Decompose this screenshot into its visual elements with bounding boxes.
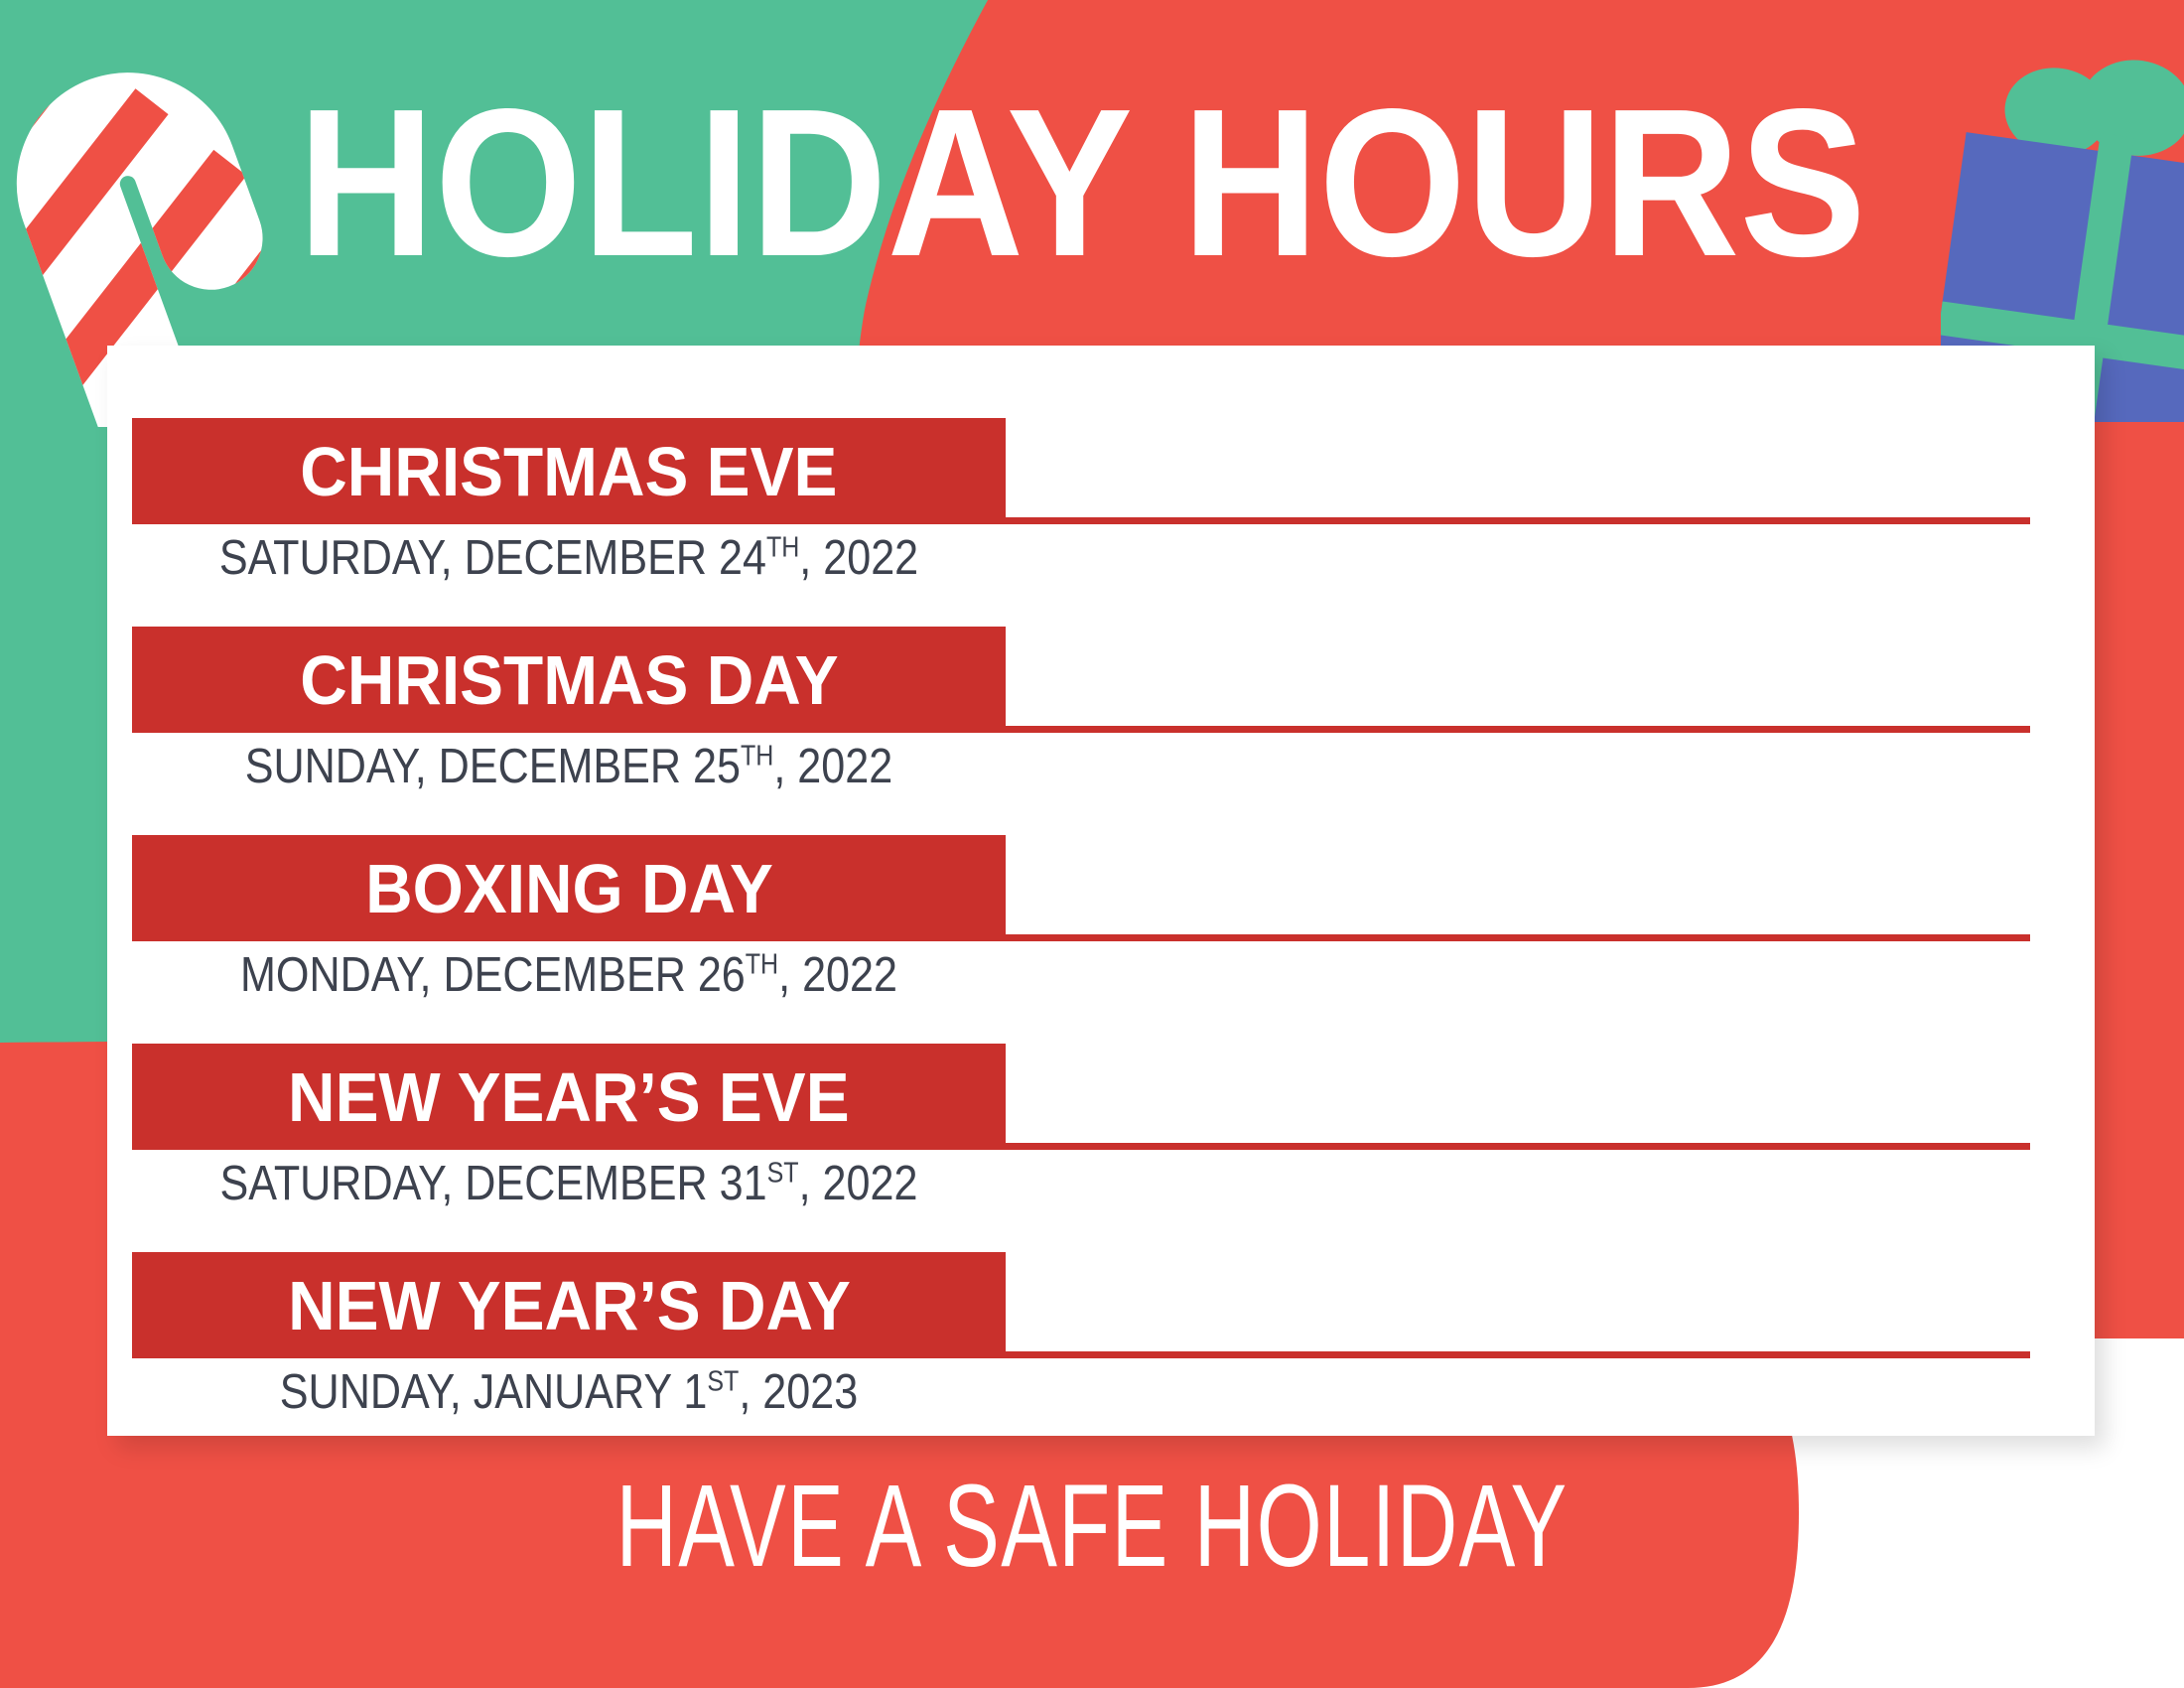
schedule-row[interactable]: NEW YEAR’S EVE SATURDAY, DECEMBER 31ST, … xyxy=(107,971,2095,1180)
holiday-name: NEW YEAR’S EVE xyxy=(288,1062,850,1132)
schedule-row[interactable]: BOXING DAY MONDAY, DECEMBER 26TH, 2022 xyxy=(107,763,2095,971)
footer-tagline: HAVE A SAFE HOLIDAY xyxy=(306,1468,1878,1585)
holiday-name: BOXING DAY xyxy=(365,854,773,923)
schedule-row[interactable]: CHRISTMAS DAY SUNDAY, DECEMBER 25TH, 202… xyxy=(107,554,2095,763)
holiday-name-bar: NEW YEAR’S EVE xyxy=(132,1044,1006,1150)
holiday-name-bar: CHRISTMAS EVE xyxy=(132,418,1006,524)
hours-write-in-rule xyxy=(1006,1351,2030,1358)
holiday-name-bar: NEW YEAR’S DAY xyxy=(132,1252,1006,1358)
hours-write-in-rule xyxy=(1006,1143,2030,1150)
holiday-hours-poster: HOLIDAY HOURS CHRISTMAS EVE SATURDAY, DE… xyxy=(0,0,2184,1688)
page-title: HOLIDAY HOURS xyxy=(298,77,1763,288)
holiday-name: CHRISTMAS DAY xyxy=(300,645,838,715)
holiday-date-suffix: , 2023 xyxy=(739,1365,858,1419)
holiday-name: CHRISTMAS EVE xyxy=(300,437,837,506)
holiday-date-ordinal: ST xyxy=(707,1366,739,1398)
schedule-card: CHRISTMAS EVE SATURDAY, DECEMBER 24TH, 2… xyxy=(107,346,2095,1436)
holiday-date: SUNDAY, JANUARY 1ST, 2023 xyxy=(185,1368,953,1417)
schedule-rows-list: CHRISTMAS EVE SATURDAY, DECEMBER 24TH, 2… xyxy=(107,346,2095,1388)
schedule-row[interactable]: NEW YEAR’S DAY SUNDAY, JANUARY 1ST, 2023 xyxy=(107,1180,2095,1388)
hours-write-in-rule xyxy=(1006,934,2030,941)
holiday-name-bar: CHRISTMAS DAY xyxy=(132,627,1006,733)
holiday-date-prefix: SUNDAY, JANUARY 1 xyxy=(280,1365,708,1419)
holiday-name-bar: BOXING DAY xyxy=(132,835,1006,941)
hours-write-in-rule xyxy=(1006,517,2030,524)
holiday-name: NEW YEAR’S DAY xyxy=(288,1271,851,1340)
hours-write-in-rule xyxy=(1006,726,2030,733)
schedule-row[interactable]: CHRISTMAS EVE SATURDAY, DECEMBER 24TH, 2… xyxy=(107,346,2095,554)
